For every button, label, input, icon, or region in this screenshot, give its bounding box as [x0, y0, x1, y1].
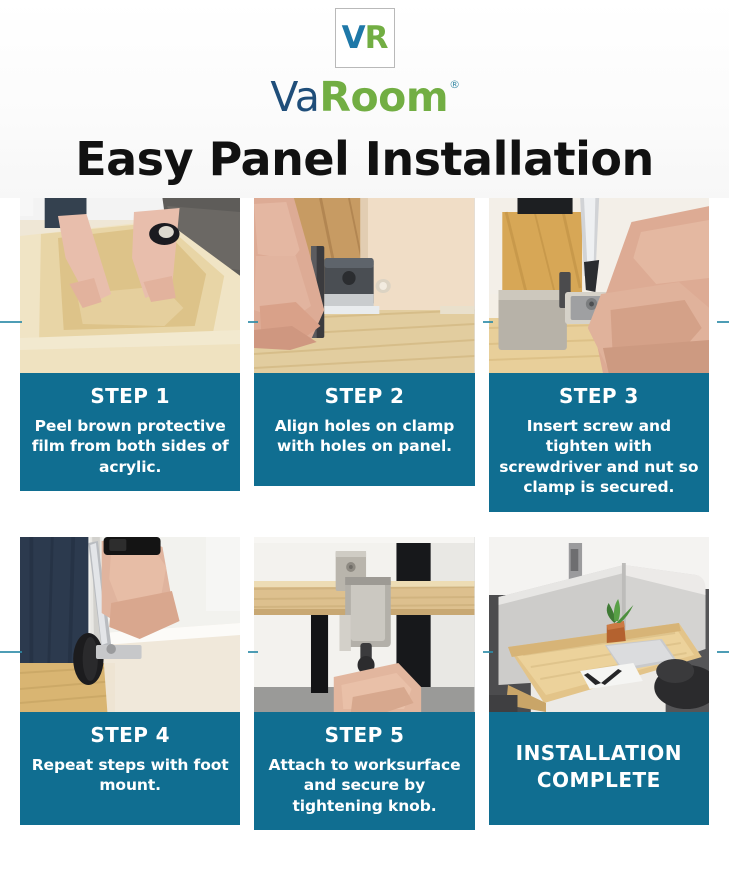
step-5-illustration-icon: [254, 537, 474, 712]
step-4-illustration-icon: [20, 537, 240, 712]
step-2-photo: [254, 198, 474, 373]
step-4-caption-card: STEP 4 Repeat steps with foot mount.: [20, 712, 240, 825]
step-card-6: INSTALLATION COMPLETE: [489, 537, 709, 830]
page-title: Easy Panel Installation: [0, 136, 729, 182]
step-card-2: STEP 2 Align holes on clamp with holes o…: [254, 198, 474, 512]
step-1-caption-card: STEP 1 Peel brown protective film from b…: [20, 373, 240, 491]
step-2-caption-card: STEP 2 Align holes on clamp with holes o…: [254, 373, 474, 486]
step-1-photo: [20, 198, 240, 373]
varoom-wordmark: VaRoom®: [270, 77, 458, 118]
vr-monogram-icon: VR: [342, 23, 388, 54]
step-4-heading: STEP 4: [30, 724, 230, 746]
logo-letter-v: V: [342, 23, 365, 54]
step-5-caption-card: STEP 5 Attach to worksurface and secure …: [254, 712, 474, 830]
step-card-3: STEP 3 Insert screw and tighten with scr…: [489, 198, 709, 512]
step-6-illustration-icon: [489, 537, 709, 712]
step-3-description: Insert screw and tighten with screwdrive…: [499, 416, 699, 498]
page-header: VR VaRoom® Easy Panel Installation: [0, 0, 729, 198]
step-card-4: STEP 4 Repeat steps with foot mount.: [20, 537, 240, 830]
logo-letter-r: R: [365, 23, 388, 54]
step-2-illustration-icon: [254, 198, 474, 373]
installation-steps-grid: STEP 1 Peel brown protective film from b…: [0, 198, 729, 830]
step-3-caption-card: STEP 3 Insert screw and tighten with scr…: [489, 373, 709, 512]
wordmark-va: Va: [270, 77, 319, 118]
step-3-illustration-icon: [489, 198, 709, 373]
step-4-description: Repeat steps with foot mount.: [30, 755, 230, 796]
registered-trademark-icon: ®: [449, 79, 460, 90]
installation-complete-heading: INSTALLATION COMPLETE: [499, 740, 699, 794]
step-5-photo: [254, 537, 474, 712]
step-5-description: Attach to worksurface and secure by tigh…: [264, 755, 464, 816]
step-2-description: Align holes on clamp with holes on panel…: [264, 416, 464, 457]
step-card-5: STEP 5 Attach to worksurface and secure …: [254, 537, 474, 830]
step-3-heading: STEP 3: [499, 385, 699, 407]
step-2-heading: STEP 2: [264, 385, 464, 407]
step-6-photo: [489, 537, 709, 712]
step-1-description: Peel brown protective film from both sid…: [30, 416, 230, 477]
wordmark-room: Room: [319, 77, 448, 118]
varoom-logo-box: VR: [335, 8, 395, 68]
step-card-1: STEP 1 Peel brown protective film from b…: [20, 198, 240, 512]
step-1-heading: STEP 1: [30, 385, 230, 407]
step-4-photo: [20, 537, 240, 712]
step-5-heading: STEP 5: [264, 724, 464, 746]
step-6-caption-card: INSTALLATION COMPLETE: [489, 712, 709, 825]
step-3-photo: [489, 198, 709, 373]
step-1-illustration-icon: [20, 198, 240, 373]
